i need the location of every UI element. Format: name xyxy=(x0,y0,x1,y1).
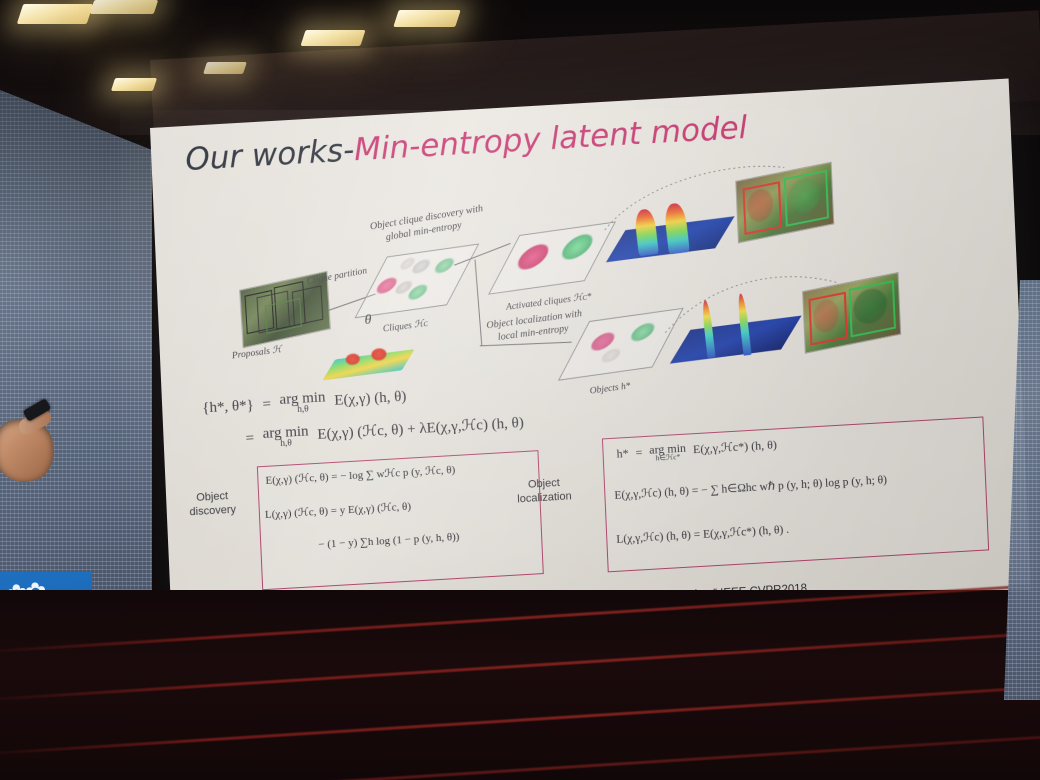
branch-line-vertical xyxy=(475,259,483,345)
slide: Our works-Min-entropy latent model Propo… xyxy=(150,78,1032,667)
activated-blob-pink xyxy=(513,243,553,272)
clique-blob-green-1 xyxy=(432,257,456,274)
label-object-localization-arrow: Object localization with local min-entro… xyxy=(486,308,584,345)
stage-backdrop xyxy=(0,590,1040,780)
surface-global-minentropy xyxy=(612,197,729,280)
label-cliques: Cliques ℋᴄ xyxy=(382,319,428,337)
surface-peak-2 xyxy=(663,202,690,254)
stage-stripe-4 xyxy=(0,732,1040,780)
object-discovery-label: Object discovery xyxy=(172,489,253,521)
surface-theta-energy xyxy=(326,337,411,393)
object-blob-green xyxy=(628,322,658,342)
result-image-localization xyxy=(802,272,901,354)
label-objects: Objects h* xyxy=(589,381,631,398)
label-proposals: Proposals ℋ xyxy=(231,345,282,363)
label-object-clique-discovery: Object clique discovery with global min-… xyxy=(369,203,486,246)
activated-cliques-diamond xyxy=(488,221,616,294)
slide-title-prefix: Our works- xyxy=(185,132,355,178)
activated-blob-green xyxy=(557,233,597,262)
object-localization-label: Object localization xyxy=(496,475,593,508)
result-image-discovery xyxy=(735,162,834,244)
surface-peak-1 xyxy=(634,208,659,256)
surface-local-minentropy xyxy=(676,296,796,384)
object-blob-grey xyxy=(599,348,623,364)
label-theta: θ xyxy=(364,312,372,330)
cliques-diamond xyxy=(355,244,480,319)
conference-photo-scene: ✿✿ CCCCC 2019 第五届 Our works-Min-entropy … xyxy=(0,0,1040,780)
label-clique-partition: Clique partition xyxy=(306,266,368,289)
